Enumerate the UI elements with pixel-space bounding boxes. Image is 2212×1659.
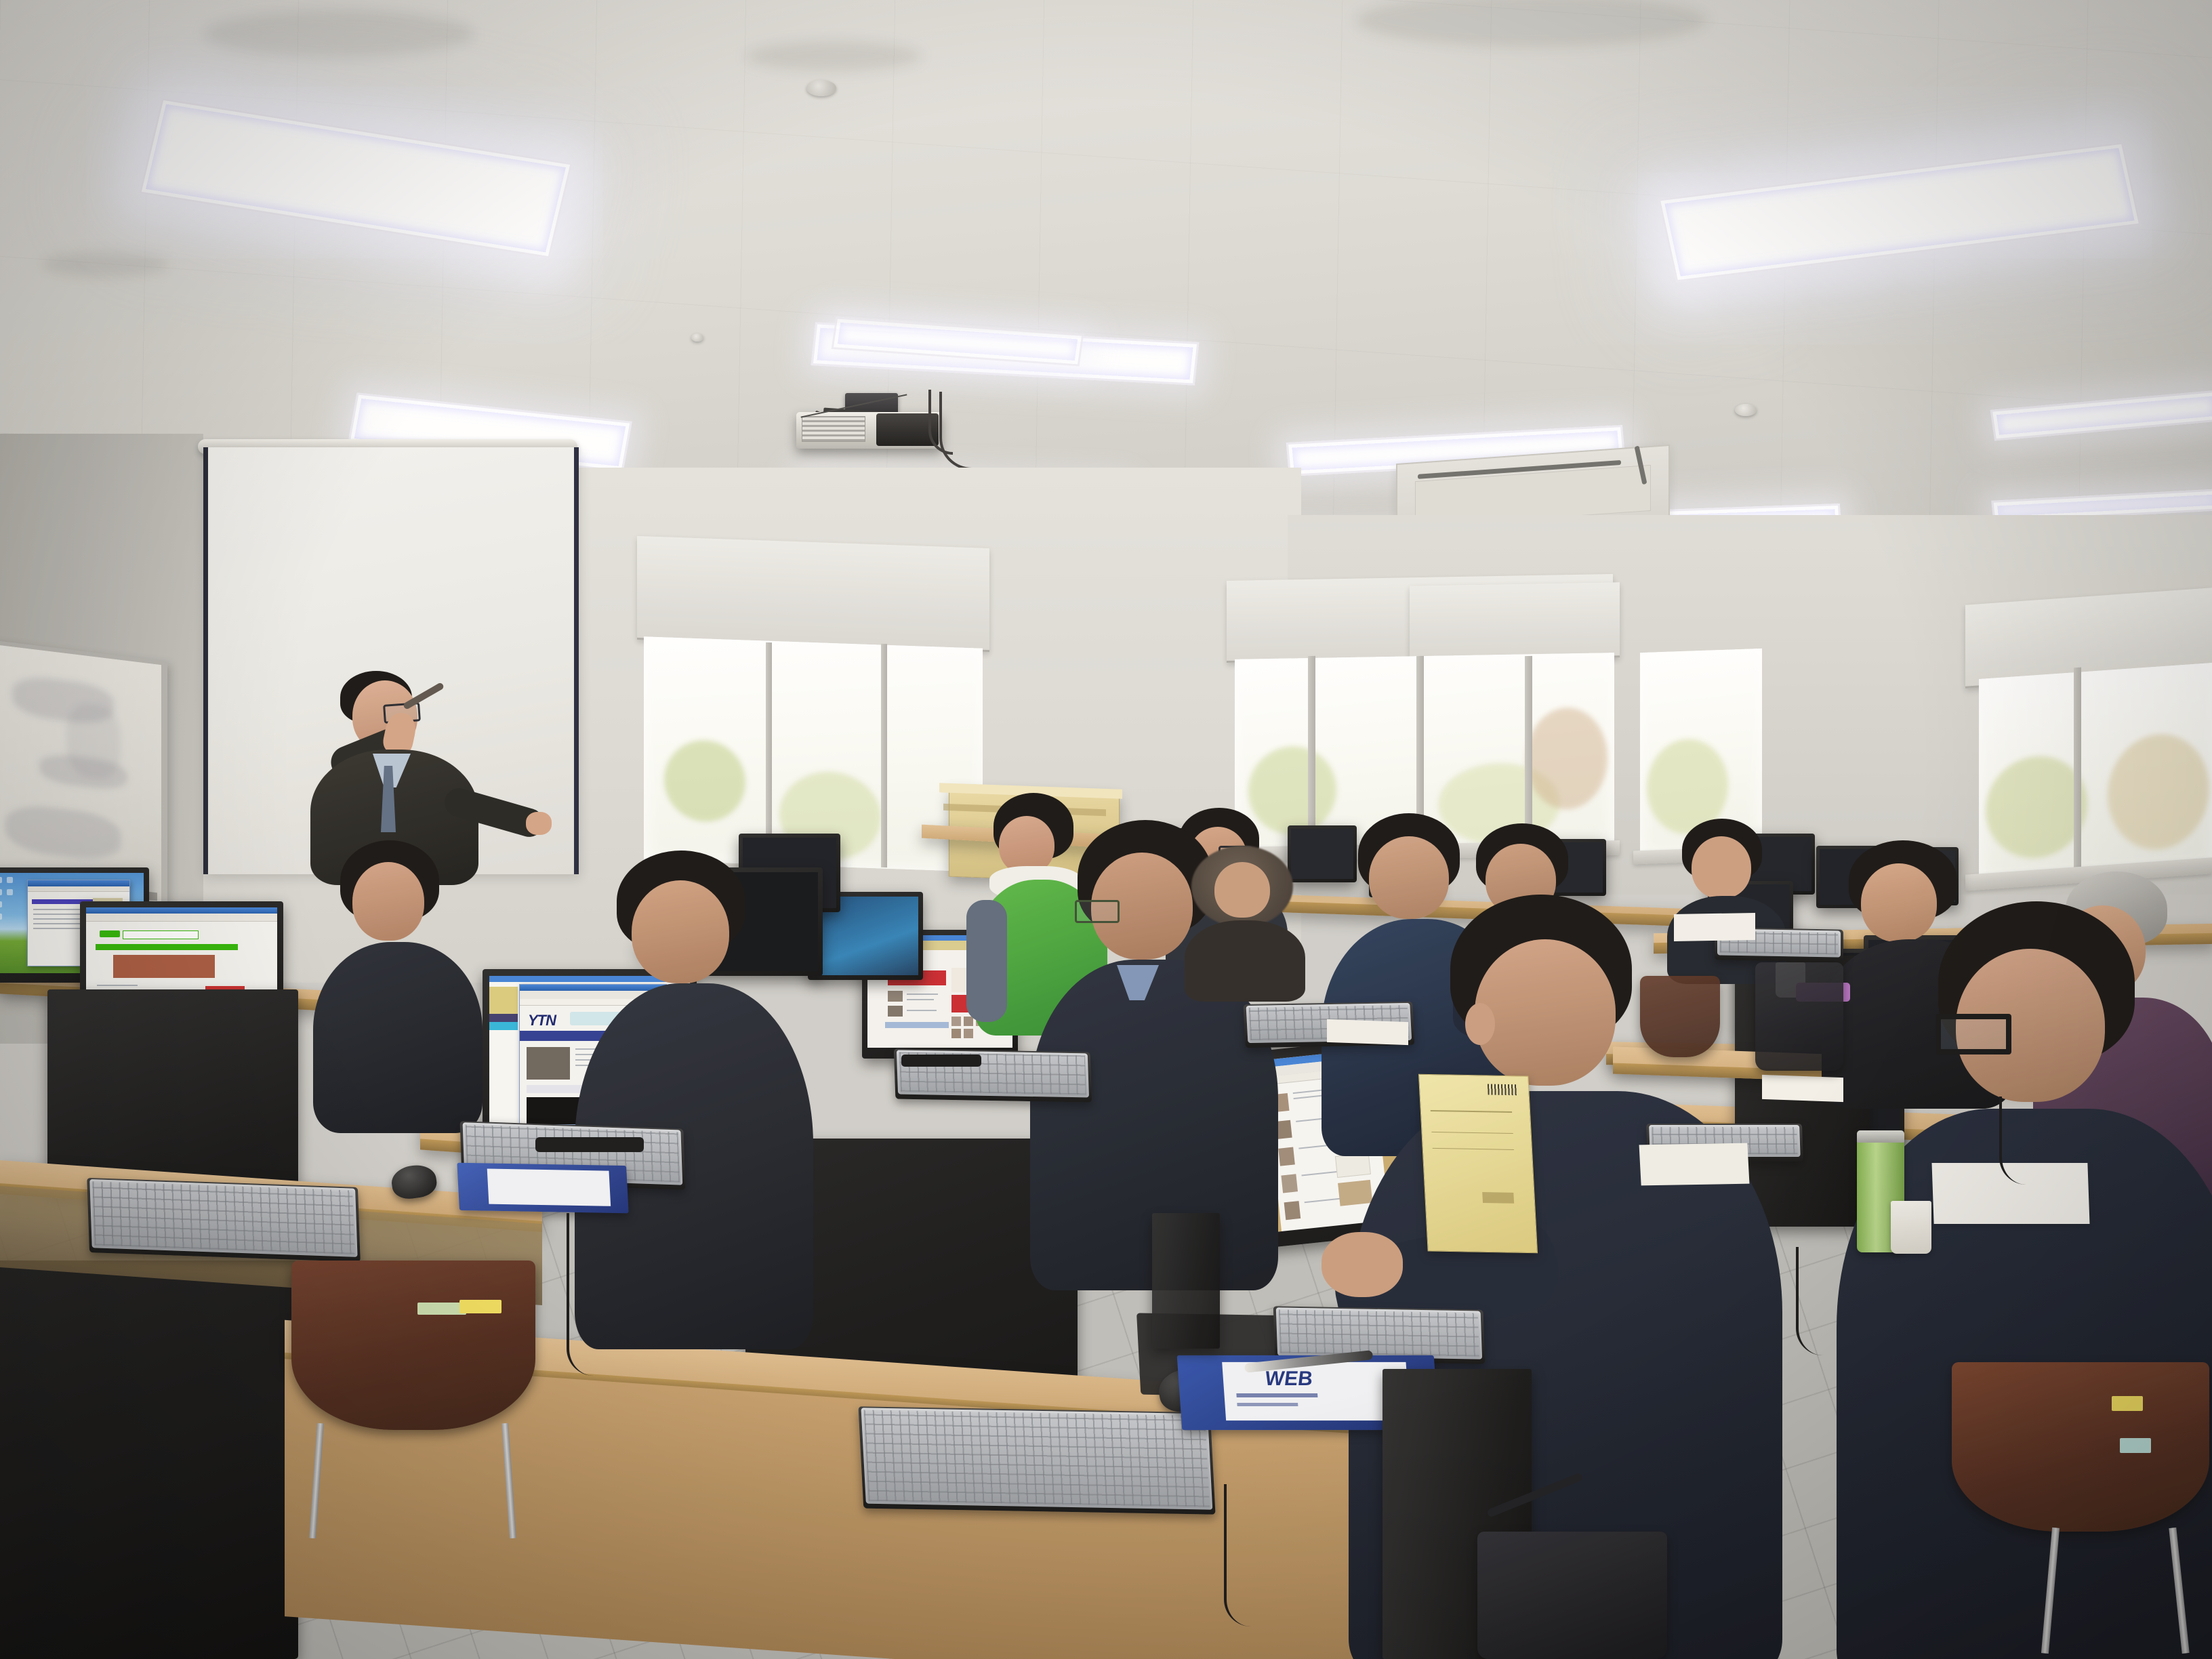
instructor-hand: [526, 812, 552, 835]
hand: [1322, 1232, 1403, 1297]
paper-sheet[interactable]: [1674, 913, 1755, 941]
glasses: [1075, 900, 1120, 923]
glasses: [1935, 1014, 2011, 1054]
cable: [1796, 1247, 1846, 1355]
book-title: WEB: [1265, 1368, 1313, 1391]
paper-sheet[interactable]: [1762, 1075, 1843, 1102]
paper-sheet[interactable]: [1327, 1019, 1408, 1045]
yellow-document-holder[interactable]: [1418, 1074, 1538, 1253]
paper-sheet[interactable]: [1639, 1143, 1750, 1186]
asset-sticker: [459, 1300, 501, 1313]
roller-blind: [637, 536, 989, 652]
desktop-tower[interactable]: [1152, 1213, 1220, 1349]
cable: [567, 1213, 617, 1376]
keyboard[interactable]: [858, 1406, 1215, 1514]
chair[interactable]: [285, 1261, 542, 1545]
monitor-stand: [535, 1137, 644, 1152]
cable: [1999, 1097, 2043, 1185]
paper-cup[interactable]: [1891, 1201, 1931, 1254]
shoulder-bag[interactable]: [1755, 962, 1843, 1071]
sprinkler-head: [691, 333, 703, 342]
monitor[interactable]: [0, 1261, 298, 1659]
smoke-detector: [1735, 404, 1757, 416]
chair[interactable]: [1952, 1362, 2212, 1654]
cable: [1224, 1484, 1288, 1626]
window-pane: [1979, 663, 2212, 882]
student-front-left: [317, 840, 487, 1125]
monitor[interactable]: SAMSUNG: [47, 989, 298, 1193]
roller-blind: [1410, 582, 1620, 661]
chair[interactable]: [1640, 976, 1721, 1098]
classroom-scene: YTN: [0, 0, 2212, 1659]
student-front-center: [590, 851, 813, 1352]
asset-sticker: [2120, 1438, 2151, 1453]
smoke-detector: [806, 80, 836, 96]
asset-sticker: [2112, 1396, 2143, 1411]
shoulder-bag[interactable]: [1477, 1532, 1667, 1659]
web-textbook[interactable]: [457, 1163, 628, 1214]
vest-sleeve: [966, 900, 1007, 1022]
monitor-stand: [901, 1054, 981, 1067]
student-fur-hood: [1185, 839, 1313, 995]
keyboard[interactable]: [87, 1178, 361, 1262]
ear: [1465, 1003, 1495, 1045]
